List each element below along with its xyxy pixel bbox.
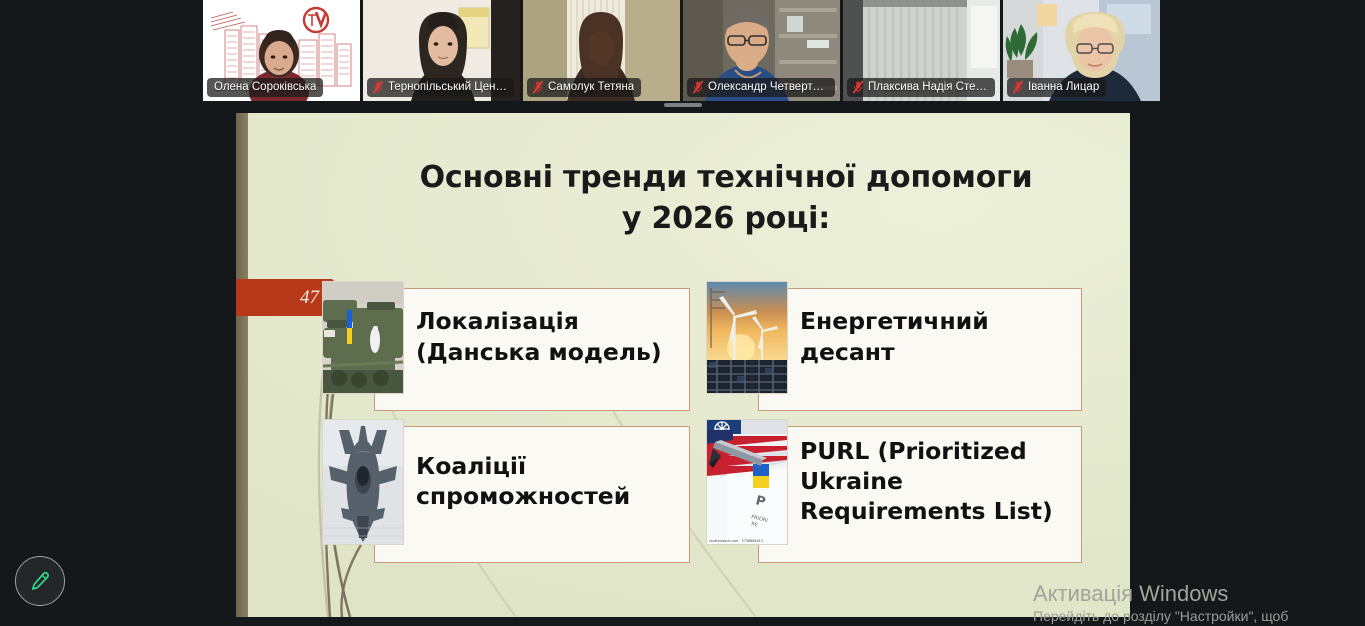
slide-number: 47	[236, 279, 332, 316]
video-tile-participant-4[interactable]: Олександр Четверта…	[683, 0, 840, 101]
participant-name-5: Плаксива Надія Степ…	[868, 80, 988, 94]
participant-name-chip-1: Олена Сороківська	[207, 78, 323, 97]
stock-photo-credit: shutterstock.com · 2756684913	[708, 539, 764, 543]
participant-name-2: Тернопільський Цен…	[388, 80, 507, 94]
card-purl: P PRIORI RE shutterstock.com · 275668491…	[706, 419, 1082, 541]
participant-name-1: Олена Сороківська	[214, 80, 316, 94]
slide-cards-grid: Локалізація (Данська модель)	[322, 281, 1082, 557]
document	[707, 468, 787, 544]
strip-drag-handle[interactable]	[664, 103, 702, 107]
microphone-muted-icon	[1012, 80, 1024, 94]
microphone-muted-icon	[852, 80, 864, 94]
cards-row-1: Локалізація (Данська модель)	[322, 281, 1082, 416]
annotate-button[interactable]	[15, 556, 65, 606]
slide-title-line-2: у 2026 році:	[356, 198, 1096, 239]
pencil-icon	[28, 569, 52, 593]
video-tile-participant-3[interactable]: Самолук Тетяна	[523, 0, 680, 101]
participant-name-chip-2: Тернопільський Цен…	[367, 78, 514, 97]
card-label-capability-coalitions: Коаліції спроможностей	[416, 419, 678, 543]
slide-title: Основні тренди технічної допомоги у 2026…	[356, 157, 1096, 239]
card-thumb-wind-solar	[706, 281, 788, 394]
microphone-muted-icon	[532, 80, 544, 94]
shared-slide: 47 Основні тренди технічної допомоги у 2…	[236, 113, 1130, 617]
participant-name-chip-5: Плаксива Надія Степ…	[847, 78, 995, 97]
card-thumb-armored-vehicle	[322, 281, 404, 394]
participant-name-6: Іванна Лицар	[1028, 80, 1099, 94]
card-localization: Локалізація (Данська модель)	[322, 281, 690, 403]
card-label-purl: PURL (Prioritized Ukraine Requirements L…	[800, 419, 1070, 543]
video-tile-participant-5[interactable]: Плаксива Надія Степ…	[843, 0, 1000, 101]
ukraine-flag	[753, 464, 769, 488]
participant-name-4: Олександр Четверта…	[708, 80, 828, 94]
video-tile-participant-6[interactable]: Іванна Лицар	[1003, 0, 1160, 101]
microphone-muted-icon	[692, 80, 704, 94]
armored-vehicle-photo	[323, 282, 403, 393]
card-thumb-flags-pen: P PRIORI RE shutterstock.com · 275668491…	[706, 419, 788, 545]
microphone-muted-icon	[372, 80, 384, 94]
card-label-localization: Локалізація (Данська модель)	[416, 281, 678, 392]
wind-solar-photo	[707, 282, 787, 393]
participant-name-3: Самолук Тетяна	[548, 80, 634, 94]
card-label-energy-landing: Енергетичний десант	[800, 281, 1070, 392]
fighter-jet-photo	[323, 420, 403, 544]
participant-video-strip: Олена Сороківська	[203, 0, 1163, 101]
cards-row-2: Коаліції спроможностей	[322, 419, 1082, 554]
video-tile-participant-2[interactable]: Тернопільський Цен…	[363, 0, 520, 101]
participant-name-chip-6: Іванна Лицар	[1007, 78, 1106, 97]
card-energy-landing: Енергетичний десант	[706, 281, 1082, 403]
participant-name-chip-4: Олександр Четверта…	[687, 78, 835, 97]
slide-left-stripe	[236, 113, 248, 617]
slide-title-line-1: Основні тренди технічної допомоги	[356, 157, 1096, 198]
flags-pen-photo: P PRIORI RE	[707, 420, 787, 544]
card-capability-coalitions: Коаліції спроможностей	[322, 419, 690, 541]
video-tile-participant-1[interactable]: Олена Сороківська	[203, 0, 360, 101]
participant-name-chip-3: Самолук Тетяна	[527, 78, 641, 97]
card-thumb-fighter-jet	[322, 419, 404, 545]
